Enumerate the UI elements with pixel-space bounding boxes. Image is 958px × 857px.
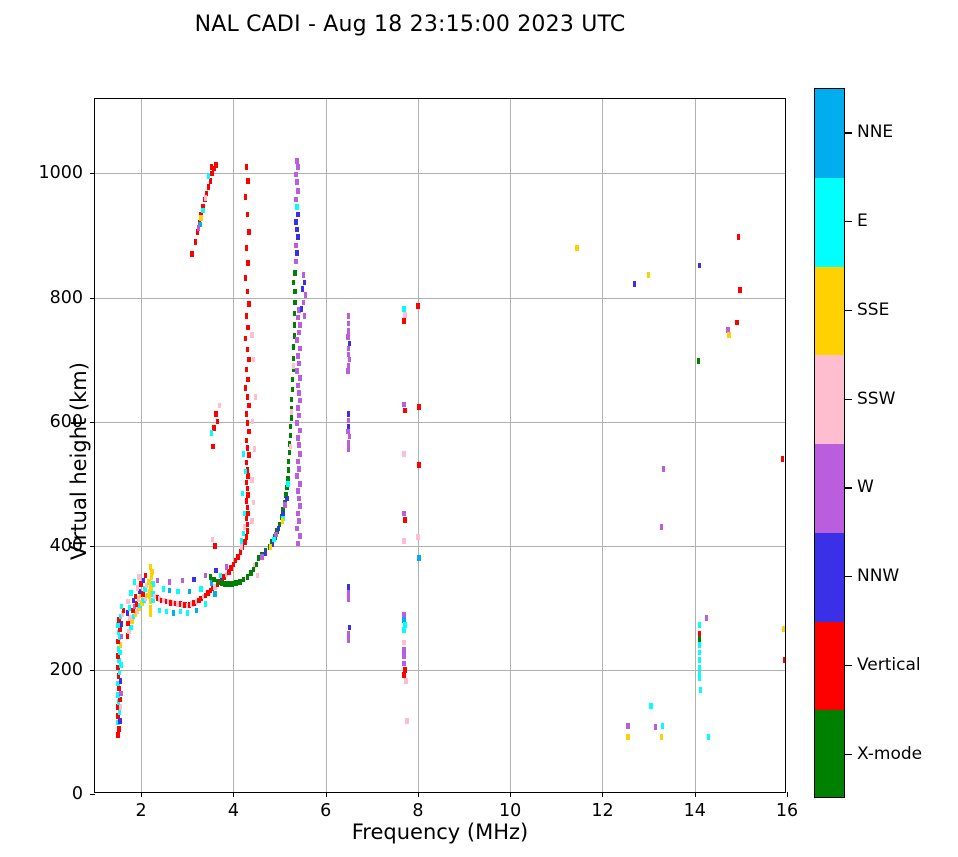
echo-point <box>300 306 303 312</box>
echo-point <box>290 409 293 415</box>
echo-point <box>186 610 189 616</box>
x-axis-tick-label: 4 <box>228 801 239 821</box>
echo-point <box>246 289 249 295</box>
echo-point <box>402 511 405 517</box>
echo-point <box>727 332 730 338</box>
echo-point <box>783 657 786 663</box>
y-axis-tick <box>90 546 95 547</box>
echo-point <box>119 704 122 710</box>
echo-point <box>225 564 228 570</box>
echo-point <box>296 383 299 389</box>
y-axis-tick-label: 0 <box>72 784 83 804</box>
echo-point <box>252 500 255 506</box>
echo-point <box>287 467 290 473</box>
echo-point <box>298 533 301 539</box>
echo-point <box>698 650 701 656</box>
echo-point <box>626 723 629 729</box>
echo-point <box>246 505 249 511</box>
colorbar-label-e: E <box>857 211 868 231</box>
colorbar-segment-e <box>815 178 844 267</box>
echo-point <box>242 451 245 457</box>
colorbar-tick <box>845 487 852 488</box>
echo-point <box>293 322 296 328</box>
echo-point <box>210 171 213 177</box>
y-axis-tick <box>90 422 95 423</box>
echo-point <box>118 697 121 703</box>
echo-point <box>117 686 120 692</box>
echo-point <box>227 581 230 587</box>
colorbar-label-sse: SSE <box>857 300 889 320</box>
echo-point <box>220 580 223 586</box>
echo-point <box>149 564 152 570</box>
echo-point <box>298 398 301 404</box>
echo-point <box>246 212 249 218</box>
echo-point <box>165 609 168 615</box>
x-axis-tick <box>510 792 511 797</box>
echo-point <box>247 452 250 458</box>
echo-point <box>246 394 249 400</box>
x-axis-tick-label: 8 <box>412 801 423 821</box>
echo-point <box>403 517 406 523</box>
echo-point <box>404 678 407 684</box>
echo-point <box>216 419 219 425</box>
colorbar-segment-x-mode <box>815 710 844 798</box>
echo-point <box>295 227 298 233</box>
echo-point <box>156 578 159 584</box>
echo-point <box>402 306 405 312</box>
echo-point <box>245 480 248 486</box>
colorbar-label-vertical: Vertical <box>857 655 921 675</box>
echo-point <box>698 636 701 642</box>
echo-point <box>297 390 300 396</box>
echo-point <box>348 357 351 363</box>
x-axis-tick <box>418 792 419 797</box>
echo-point <box>347 596 350 602</box>
echo-point <box>204 195 207 201</box>
echo-point <box>223 581 226 587</box>
echo-point <box>116 732 119 738</box>
echo-point <box>347 637 350 643</box>
echo-point <box>251 419 254 425</box>
echo-point <box>707 734 710 740</box>
echo-point <box>633 281 636 287</box>
echo-point <box>142 578 145 584</box>
echo-point <box>649 703 652 709</box>
echo-point <box>219 573 222 579</box>
x-axis-tick <box>602 792 603 797</box>
echo-point <box>250 332 253 338</box>
echo-point <box>297 518 300 524</box>
echo-point <box>347 590 350 596</box>
echo-point <box>292 280 295 286</box>
echo-point <box>246 178 249 184</box>
echo-point <box>735 320 738 326</box>
echo-point <box>705 615 708 621</box>
echo-point <box>195 608 198 614</box>
echo-point <box>118 709 121 715</box>
echo-point <box>246 325 249 331</box>
echo-point <box>575 245 578 251</box>
echo-point <box>288 450 291 456</box>
x-axis-tick-label: 6 <box>320 801 331 821</box>
echo-point <box>289 444 292 450</box>
echo-point <box>245 411 248 417</box>
echo-point <box>252 357 255 363</box>
echo-point <box>234 580 237 586</box>
echo-point <box>298 346 301 352</box>
echo-point <box>289 433 292 439</box>
gridline-vertical <box>695 99 696 792</box>
echo-point <box>244 336 247 342</box>
echo-point <box>402 672 405 678</box>
echo-point <box>402 538 405 544</box>
echo-point <box>118 718 121 724</box>
gridline-vertical <box>326 99 327 792</box>
echo-point <box>298 481 301 487</box>
echo-point <box>190 251 193 257</box>
echo-point <box>245 245 248 251</box>
colorbar <box>814 88 845 798</box>
echo-point <box>245 313 248 319</box>
colorbar-tick <box>845 132 852 133</box>
echo-point <box>192 577 195 583</box>
colorbar-segment-nne <box>815 89 844 178</box>
echo-point <box>168 588 171 594</box>
x-axis-tick-label: 2 <box>136 801 147 821</box>
y-axis-tick <box>90 794 95 795</box>
echo-point <box>168 579 171 585</box>
colorbar-tick <box>845 399 852 400</box>
echo-point <box>149 611 152 617</box>
echo-point <box>172 610 175 616</box>
colorbar-tick <box>845 754 852 755</box>
echo-point <box>304 292 307 298</box>
echo-point <box>213 543 216 549</box>
echo-point <box>199 586 202 592</box>
echo-point <box>626 734 629 740</box>
echo-point <box>698 676 701 682</box>
echo-point <box>403 408 406 414</box>
echo-point <box>298 503 301 509</box>
x-axis-tick-label: 12 <box>591 801 613 821</box>
echo-point <box>417 555 420 561</box>
colorbar-segment-sse <box>815 267 844 356</box>
echo-point <box>402 402 405 408</box>
gridline-vertical <box>602 99 603 792</box>
echo-point <box>211 444 214 450</box>
echo-point <box>287 459 290 465</box>
echo-point <box>293 289 296 295</box>
echo-point <box>296 234 299 240</box>
echo-point <box>647 272 650 278</box>
echo-point <box>698 263 701 269</box>
gridline-horizontal <box>95 422 785 423</box>
echo-point <box>661 723 664 729</box>
echo-point <box>295 368 298 374</box>
echo-point <box>231 581 234 587</box>
echo-point <box>244 275 247 281</box>
echo-point <box>118 670 121 676</box>
echo-point <box>296 188 299 194</box>
echo-point <box>214 568 217 574</box>
echo-point <box>150 569 153 575</box>
echo-point <box>402 318 405 324</box>
echo-point <box>239 549 242 555</box>
echo-point <box>660 524 663 530</box>
y-axis-tick-label: 800 <box>50 288 83 308</box>
gridline-horizontal <box>95 298 785 299</box>
echo-point <box>285 496 288 502</box>
echo-point <box>209 178 212 184</box>
echo-point <box>698 642 701 648</box>
echo-point <box>209 574 212 580</box>
y-axis-tick <box>90 173 95 174</box>
echo-point <box>295 337 298 343</box>
figure-title: NAL CADI - Aug 18 23:15:00 2023 UTC <box>0 12 820 37</box>
echo-point <box>292 344 295 350</box>
echo-point <box>245 498 248 504</box>
echo-point <box>294 243 297 249</box>
echo-point <box>303 280 306 286</box>
echo-point <box>214 411 217 417</box>
echo-point <box>245 460 248 466</box>
colorbar-label-nne: NNE <box>857 122 893 142</box>
echo-point <box>243 511 246 517</box>
echo-point <box>347 346 350 352</box>
y-axis-title: Virtual height (km) <box>67 311 91 611</box>
x-axis-tick <box>695 792 696 797</box>
echo-point <box>297 442 300 448</box>
echo-point <box>348 434 351 440</box>
echo-point <box>117 726 120 732</box>
echo-point <box>158 608 161 614</box>
echo-point <box>249 570 252 576</box>
echo-point <box>246 420 249 426</box>
echo-point <box>402 640 405 646</box>
echo-point <box>246 445 249 451</box>
echo-point <box>347 328 350 334</box>
echo-point <box>295 526 298 532</box>
echo-point <box>294 197 297 203</box>
gridline-horizontal <box>95 546 785 547</box>
echo-point <box>244 469 247 475</box>
colorbar-tick <box>845 576 852 577</box>
echo-point <box>277 526 280 532</box>
colorbar-label-nnw: NNW <box>857 566 899 586</box>
echo-point <box>245 516 248 522</box>
echo-point <box>128 605 131 611</box>
echo-point <box>120 604 123 610</box>
x-axis-tick-label: 10 <box>499 801 521 821</box>
echo-point <box>296 541 299 547</box>
echo-point <box>293 270 296 276</box>
echo-point <box>137 574 140 580</box>
echo-point <box>247 403 250 409</box>
echo-point <box>272 537 275 543</box>
echo-point <box>199 215 202 221</box>
echo-point <box>204 573 207 579</box>
echo-point <box>295 179 298 185</box>
echo-point <box>654 724 657 730</box>
echo-point <box>247 229 250 235</box>
echo-point <box>119 691 122 697</box>
echo-point <box>698 657 701 663</box>
echo-point <box>246 574 249 580</box>
echo-point <box>283 502 286 508</box>
colorbar-segment-nnw <box>815 533 844 622</box>
echo-point <box>129 590 132 596</box>
echo-point <box>286 481 289 487</box>
echo-point <box>211 537 214 543</box>
echo-point <box>126 610 129 616</box>
echo-point <box>290 415 293 421</box>
echo-point <box>296 353 299 359</box>
echo-point <box>201 208 204 214</box>
echo-point <box>301 286 304 292</box>
y-axis-tick-label: 200 <box>50 660 83 680</box>
echo-point <box>245 164 248 170</box>
echo-point <box>781 456 784 462</box>
echo-point <box>289 424 292 430</box>
echo-point <box>141 591 144 597</box>
echo-point <box>303 313 306 319</box>
echo-point <box>213 591 216 597</box>
echo-point <box>402 661 405 667</box>
echo-point <box>660 734 663 740</box>
echo-point <box>402 647 405 653</box>
echo-point <box>179 609 182 615</box>
echo-point <box>697 358 700 364</box>
ionogram-figure: NAL CADI - Aug 18 23:15:00 2023 UTC Virt… <box>0 0 958 857</box>
echo-point <box>250 477 253 483</box>
echo-point <box>194 239 197 245</box>
echo-point <box>292 356 295 362</box>
echo-point <box>149 584 152 590</box>
echo-point <box>698 622 701 628</box>
echo-point <box>250 518 253 524</box>
echo-point <box>296 405 299 411</box>
echo-point <box>298 322 301 328</box>
echo-point <box>246 347 249 353</box>
echo-point <box>264 550 267 556</box>
echo-point <box>126 599 129 605</box>
echo-point <box>204 601 207 607</box>
gridline-vertical <box>510 99 511 792</box>
echo-point <box>244 194 247 200</box>
echo-point <box>210 164 213 170</box>
plot-data-area <box>95 99 785 792</box>
echo-point <box>218 403 221 409</box>
echo-point <box>269 544 272 550</box>
echo-point <box>240 538 243 544</box>
echo-point <box>150 574 153 580</box>
echo-point <box>246 492 249 498</box>
colorbar-tick <box>845 221 852 222</box>
echo-point <box>253 446 256 452</box>
echo-point <box>246 377 249 383</box>
echo-point <box>246 486 249 492</box>
echo-point <box>298 451 301 457</box>
echo-point <box>176 589 179 595</box>
echo-point <box>119 678 122 684</box>
echo-point <box>256 573 259 579</box>
echo-point <box>148 579 151 585</box>
y-axis-tick-label: 400 <box>50 536 83 556</box>
echo-point <box>197 225 200 231</box>
gridline-horizontal <box>95 670 785 671</box>
x-axis-tick <box>326 792 327 797</box>
echo-point <box>295 250 298 256</box>
echo-point <box>297 496 300 502</box>
y-axis-tick-label: 600 <box>50 412 83 432</box>
echo-point <box>244 385 247 391</box>
gridline-vertical <box>141 99 142 792</box>
echo-point <box>417 404 420 410</box>
echo-point <box>296 459 299 465</box>
echo-point <box>238 579 241 585</box>
echo-point <box>347 584 350 590</box>
echo-point <box>236 554 239 560</box>
echo-point <box>296 435 299 441</box>
echo-point <box>297 413 300 419</box>
gridline-vertical <box>233 99 234 792</box>
echo-point <box>302 300 305 306</box>
echo-point <box>347 313 350 319</box>
echo-point <box>133 579 136 585</box>
echo-point <box>347 631 350 637</box>
echo-point <box>247 301 250 307</box>
echo-point <box>216 579 219 585</box>
echo-point <box>295 204 298 210</box>
colorbar-label-ssw: SSW <box>857 389 895 409</box>
echo-point <box>738 287 741 293</box>
echo-point <box>291 377 294 383</box>
gridline-vertical <box>418 99 419 792</box>
echo-point <box>241 491 244 497</box>
plot-axes: Virtual height (km) 24681012141602004006… <box>94 98 786 793</box>
echo-point <box>298 428 301 434</box>
colorbar-segment-vertical <box>815 622 844 711</box>
echo-point <box>242 577 245 583</box>
echo-point <box>297 466 300 472</box>
echo-point <box>347 321 350 327</box>
echo-point <box>737 234 740 240</box>
echo-point <box>296 212 299 218</box>
colorbar-label-w: W <box>857 477 874 497</box>
echo-point <box>207 184 210 190</box>
echo-point <box>403 312 406 318</box>
echo-point <box>416 534 419 540</box>
colorbar-label-x-mode: X-mode <box>857 744 922 764</box>
echo-point <box>149 605 152 611</box>
echo-point <box>242 531 245 537</box>
echo-point <box>240 544 243 550</box>
echo-point <box>295 158 298 164</box>
echo-point <box>347 446 350 452</box>
x-axis-tick-label: 16 <box>776 801 798 821</box>
echo-point <box>246 260 249 266</box>
x-axis-tick <box>233 792 234 797</box>
echo-point <box>281 518 284 524</box>
colorbar-tick <box>845 310 852 311</box>
echo-point <box>347 418 350 424</box>
echo-point <box>210 430 213 436</box>
echo-point <box>181 578 184 584</box>
echo-point <box>346 368 349 374</box>
echo-point <box>662 466 665 472</box>
echo-point <box>297 330 300 336</box>
echo-point <box>260 554 263 560</box>
